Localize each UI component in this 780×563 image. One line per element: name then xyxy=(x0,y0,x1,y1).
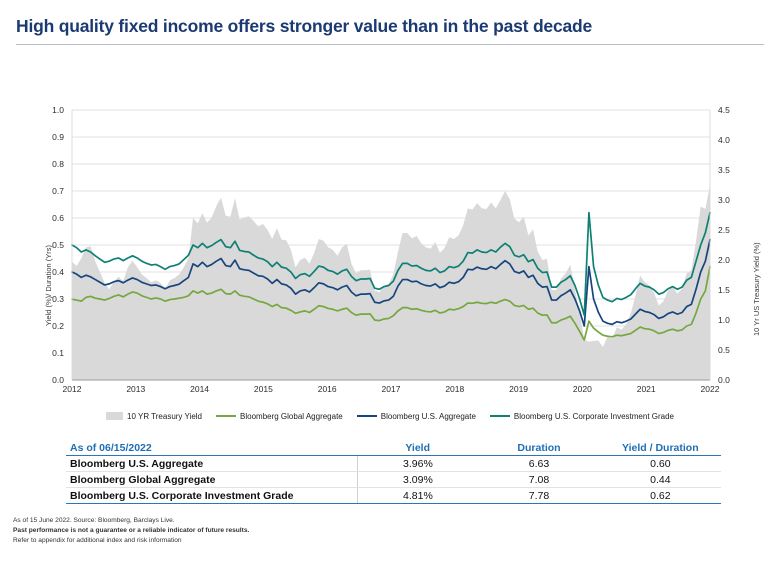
table-body: Bloomberg U.S. Aggregate3.96%6.630.60Blo… xyxy=(66,456,721,504)
footnotes: As of 15 June 2022. Source: Bloomberg, B… xyxy=(13,516,513,547)
y-axis-right-tick: 2.0 xyxy=(718,255,744,265)
legend-item[interactable]: Bloomberg Global Aggregate xyxy=(216,412,343,421)
x-axis-tick: 2015 xyxy=(243,384,283,394)
table-cell-yield: 3.96% xyxy=(357,456,478,472)
table-cell-name: Bloomberg U.S. Corporate Investment Grad… xyxy=(66,488,357,504)
x-axis-tick: 2020 xyxy=(562,384,602,394)
page-title: High quality fixed income offers stronge… xyxy=(16,16,766,37)
x-axis-tick: 2013 xyxy=(116,384,156,394)
table-cell-duration: 6.63 xyxy=(478,456,599,472)
y-axis-right-tick: 1.5 xyxy=(718,285,744,295)
summary-table-container: As of 06/15/2022 Yield Duration Yield / … xyxy=(66,440,721,504)
x-axis-tick: 2016 xyxy=(307,384,347,394)
table-row: Bloomberg Global Aggregate3.09%7.080.44 xyxy=(66,472,721,488)
footnote-line: As of 15 June 2022. Source: Bloomberg, B… xyxy=(13,516,513,526)
table-cell-yield: 3.09% xyxy=(357,472,478,488)
table-cell-ratio: 0.60 xyxy=(600,456,721,472)
chart-legend: 10 YR Treasury YieldBloomberg Global Agg… xyxy=(0,408,780,424)
chart-plot xyxy=(0,88,780,408)
y-axis-right-tick: 0.5 xyxy=(718,345,744,355)
table-row: Bloomberg U.S. Corporate Investment Grad… xyxy=(66,488,721,504)
y-axis-left-tick: 0.4 xyxy=(38,267,64,277)
x-axis-tick: 2019 xyxy=(499,384,539,394)
chart-container: Yield (%)/ Duration (Yrs) 10 Yr US Treas… xyxy=(0,88,780,408)
table-cell-duration: 7.08 xyxy=(478,472,599,488)
legend-line-swatch xyxy=(490,415,510,418)
table-cell-name: Bloomberg U.S. Aggregate xyxy=(66,456,357,472)
y-axis-left-tick: 0.5 xyxy=(38,240,64,250)
x-axis-tick: 2012 xyxy=(52,384,92,394)
x-axis-tick: 2018 xyxy=(435,384,475,394)
y-axis-right-tick: 2.5 xyxy=(718,225,744,235)
x-axis-tick: 2022 xyxy=(690,384,730,394)
footnote-line: Past performance is not a guarantee or a… xyxy=(13,526,513,536)
y-axis-right-tick: 3.0 xyxy=(718,195,744,205)
y-axis-right-tick: 3.5 xyxy=(718,165,744,175)
footnote-line: Refer to appendix for additional index a… xyxy=(13,536,513,546)
y-axis-left-tick: 0.8 xyxy=(38,159,64,169)
legend-line-swatch xyxy=(357,415,377,418)
legend-label: Bloomberg Global Aggregate xyxy=(240,412,343,421)
legend-label: Bloomberg U.S. Aggregate xyxy=(381,412,476,421)
y-axis-left-tick: 0.9 xyxy=(38,132,64,142)
y-axis-left-tick: 0.7 xyxy=(38,186,64,196)
table-row: Bloomberg U.S. Aggregate3.96%6.630.60 xyxy=(66,456,721,472)
summary-table: As of 06/15/2022 Yield Duration Yield / … xyxy=(66,440,721,504)
title-divider xyxy=(16,44,764,45)
table-cell-ratio: 0.44 xyxy=(600,472,721,488)
legend-area-swatch xyxy=(106,412,123,420)
y-axis-left-title: Yield (%)/ Duration (Yrs) xyxy=(44,245,53,326)
y-axis-left-tick: 0.1 xyxy=(38,348,64,358)
legend-item[interactable]: Bloomberg U.S. Corporate Investment Grad… xyxy=(490,412,674,421)
y-axis-left-tick: 1.0 xyxy=(38,105,64,115)
table-cell-yield: 4.81% xyxy=(357,488,478,504)
slide-page: High quality fixed income offers stronge… xyxy=(0,0,780,563)
table-cell-ratio: 0.62 xyxy=(600,488,721,504)
legend-label: 10 YR Treasury Yield xyxy=(127,412,202,421)
table-cell-name: Bloomberg Global Aggregate xyxy=(66,472,357,488)
legend-line-swatch xyxy=(216,415,236,418)
y-axis-right-tick: 1.0 xyxy=(718,315,744,325)
table-cell-duration: 7.78 xyxy=(478,488,599,504)
x-axis-tick: 2017 xyxy=(371,384,411,394)
table-header-duration: Duration xyxy=(478,440,599,456)
table-header-asof: As of 06/15/2022 xyxy=(66,440,357,456)
y-axis-right-tick: 4.5 xyxy=(718,105,744,115)
x-axis-tick: 2014 xyxy=(180,384,220,394)
legend-item[interactable]: 10 YR Treasury Yield xyxy=(106,412,202,421)
y-axis-left-tick: 0.6 xyxy=(38,213,64,223)
y-axis-left-tick: 0.3 xyxy=(38,294,64,304)
y-axis-right-title: 10 Yr US Treasury Yield (%) xyxy=(752,242,761,336)
table-header-row: As of 06/15/2022 Yield Duration Yield / … xyxy=(66,440,721,456)
table-header-yield: Yield xyxy=(357,440,478,456)
x-axis-tick: 2021 xyxy=(626,384,666,394)
table-header-ratio: Yield / Duration xyxy=(600,440,721,456)
legend-label: Bloomberg U.S. Corporate Investment Grad… xyxy=(514,412,674,421)
legend-item[interactable]: Bloomberg U.S. Aggregate xyxy=(357,412,476,421)
y-axis-right-tick: 4.0 xyxy=(718,135,744,145)
y-axis-left-tick: 0.2 xyxy=(38,321,64,331)
